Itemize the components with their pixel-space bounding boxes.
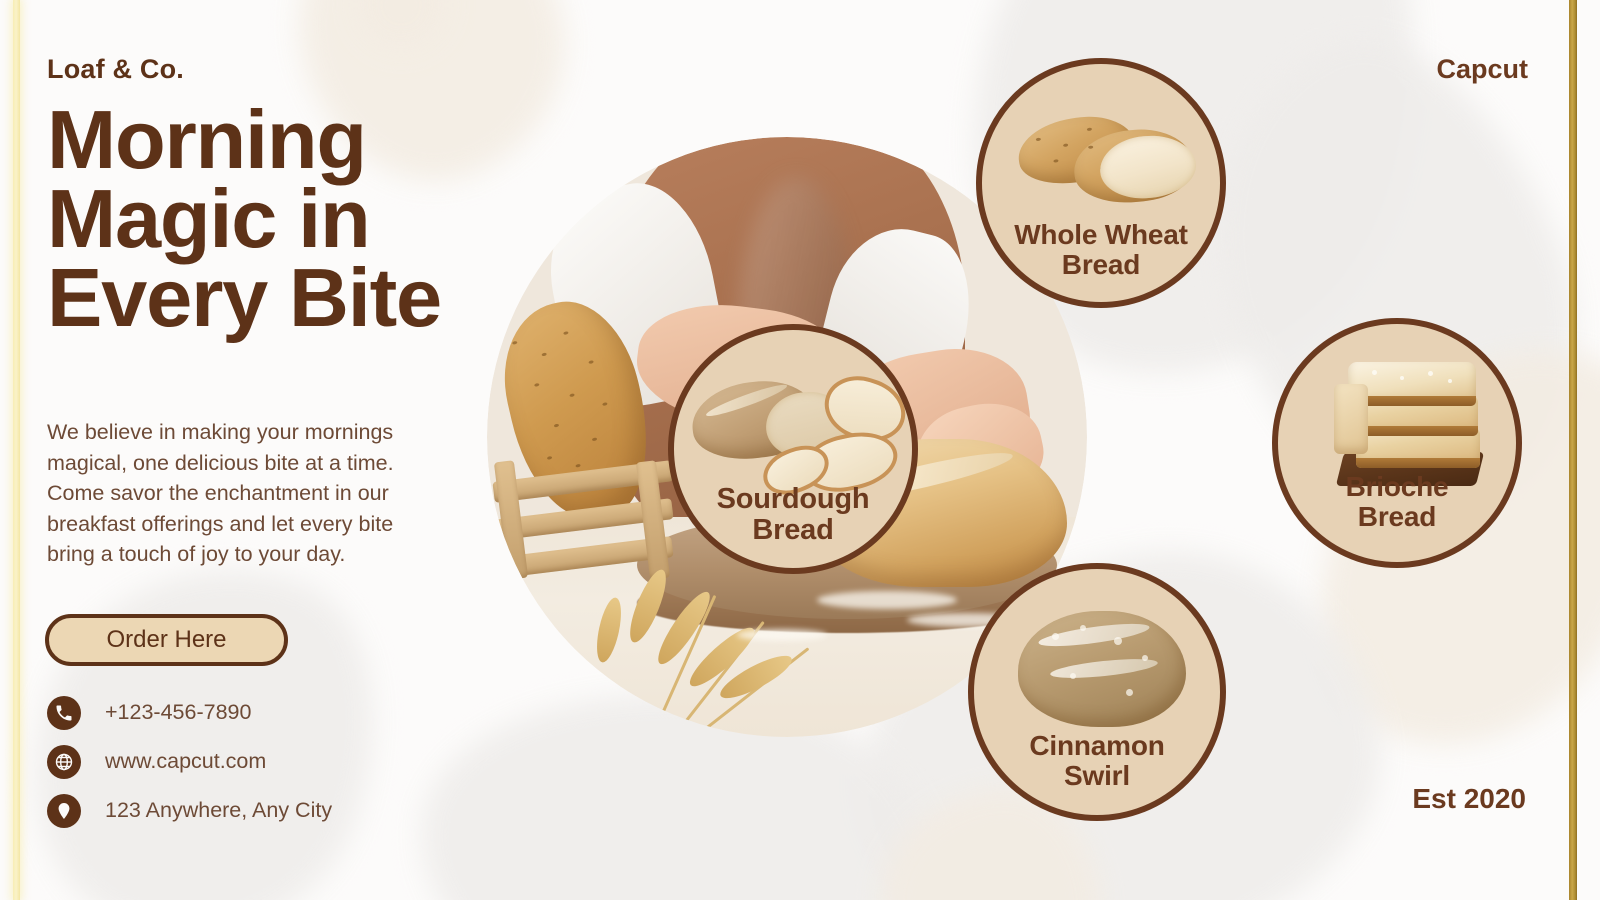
contact-website-text: www.capcut.com (105, 749, 266, 774)
order-here-button[interactable]: Order Here (45, 614, 288, 666)
left-gold-border (13, 0, 20, 900)
product-bubble-cinnamon-swirl[interactable]: Cinnamon Swirl (968, 563, 1226, 821)
contact-address[interactable]: 123 Anywhere, Any City (47, 786, 332, 835)
brand-name: Loaf & Co. (47, 54, 184, 85)
product-label: Cinnamon Swirl (1029, 731, 1164, 815)
body-line-2: magical, one delicious bite at a time. (47, 448, 487, 479)
poster-canvas: Loaf & Co. Morning Magic in Every Bite W… (0, 0, 1600, 900)
contact-list: +123-456-7890 www.capcut.com (47, 688, 332, 835)
product-label: Brioche Bread (1346, 472, 1449, 562)
location-icon (47, 794, 81, 828)
contact-phone-text: +123-456-7890 (105, 700, 251, 725)
body-line-4: breakfast offerings and let every bite (47, 509, 487, 540)
headline-line-1: Morning (47, 101, 567, 180)
product-label: Whole Wheat Bread (1014, 220, 1188, 302)
headline-line-3: Every Bite (47, 259, 567, 338)
product-bubble-sourdough-bread[interactable]: Sourdough Bread (668, 324, 918, 574)
contact-website[interactable]: www.capcut.com (47, 737, 332, 786)
body-line-5: bring a touch of joy to your day. (47, 539, 487, 570)
established-mark: Est 2020 (1412, 783, 1526, 815)
contact-phone[interactable]: +123-456-7890 (47, 688, 332, 737)
body-paragraph: We believe in making your mornings magic… (47, 417, 487, 570)
body-line-1: We believe in making your mornings (47, 417, 487, 448)
body-line-3: Come savor the enchantment in our (47, 478, 487, 509)
globe-icon (47, 745, 81, 779)
capcut-watermark: Capcut (1436, 54, 1528, 85)
product-bubble-brioche-bread[interactable]: Brioche Bread (1272, 318, 1522, 568)
product-bubble-whole-wheat-bread[interactable]: Whole Wheat Bread (976, 58, 1226, 308)
product-label: Sourdough Bread (717, 484, 870, 568)
headline-line-2: Magic in (47, 180, 567, 259)
right-gold-border (1569, 0, 1577, 900)
page-title: Morning Magic in Every Bite (47, 101, 567, 338)
contact-address-text: 123 Anywhere, Any City (105, 798, 332, 823)
phone-icon (47, 696, 81, 730)
